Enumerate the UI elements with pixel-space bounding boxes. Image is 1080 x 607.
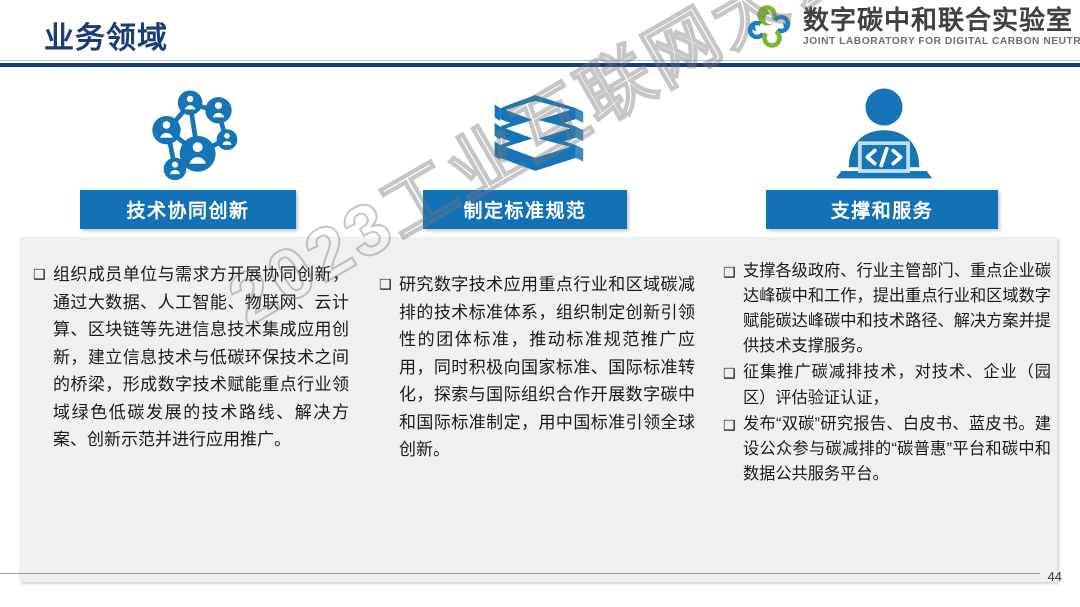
slide-header: 业务领域 数字碳中和联合实验室 JO [0,0,1080,67]
bullet-text: 征集推广碳减排技术，对技术、企业（园区）评估验证认证， [743,360,1051,410]
slide: 业务领域 数字碳中和联合实验室 JO [0,0,1080,607]
card-title-support-service: 支撑和服务 [766,190,998,229]
card-row: 技术协同创新 ❑ 组织成员单位与需求方开展协同创新，通过大数据、人工智能、物联网… [0,78,1080,588]
bullet-text: 组织成员单位与需求方开展协同创新，通过大数据、人工智能、物联网、云计算、区块链等… [53,261,349,454]
page-number: 44 [1048,569,1062,584]
card-title-standards: 制定标准规范 [423,190,627,229]
card-support-service: 支撑和服务 ❑ 支撑各级政府、行业主管部门、重点企业碳达峰碳中和工作，提出重点行… [711,78,1057,586]
footer-divider [0,573,1040,574]
bullet-text: 研究数字技术应用重点行业和区域碳减排的技术标准体系，组织制定创新引领性的团体标准… [399,271,695,464]
list-item: ❑ 组织成员单位与需求方开展协同创新，通过大数据、人工智能、物联网、云计算、区块… [33,261,349,454]
bullet-text: 发布“双碳”研究报告、白皮书、蓝皮书。建设公众参与碳减排的“碳普惠”平台和碳中和… [743,412,1051,487]
card-technology-collaboration: 技术协同创新 ❑ 组织成员单位与需求方开展协同创新，通过大数据、人工智能、物联网… [19,78,365,586]
list-item: ❑ 研究数字技术应用重点行业和区域碳减排的技术标准体系，组织制定创新引领性的团体… [379,271,695,464]
bullet-marker-icon: ❑ [33,261,53,288]
bullet-marker-icon: ❑ [723,259,743,286]
list-item: ❑ 征集推广碳减排技术，对技术、企业（园区）评估验证认证， [723,360,1051,410]
card-standards: 制定标准规范 ❑ 研究数字技术应用重点行业和区域碳减排的技术标准体系，组织制定创… [365,78,711,586]
developer-laptop-icon [711,78,1057,188]
book-stack-icon [365,78,711,188]
card-body-standards: ❑ 研究数字技术应用重点行业和区域碳减排的技术标准体系，组织制定创新引领性的团体… [365,237,711,582]
header-divider-thin [0,60,1080,61]
list-item: ❑ 支撑各级政府、行业主管部门、重点企业碳达峰碳中和工作，提出重点行业和区域数字… [723,259,1051,359]
bullet-marker-icon: ❑ [379,271,399,298]
pinwheel-logo-icon [745,5,795,49]
brand-name-cn: 数字碳中和联合实验室 [803,7,1080,33]
bullet-text: 支撑各级政府、行业主管部门、重点企业碳达峰碳中和工作，提出重点行业和区域数字赋能… [743,259,1051,359]
bullet-marker-icon: ❑ [723,360,743,387]
header-divider [0,63,1080,67]
card-title-technology-collaboration: 技术协同创新 [80,190,296,229]
card-body-support-service: ❑ 支撑各级政府、行业主管部门、重点企业碳达峰碳中和工作，提出重点行业和区域数字… [711,237,1057,582]
network-people-icon [19,78,365,188]
brand-name-en: JOINT LABORATORY FOR DIGITAL CARBON NEUT… [803,37,1080,47]
brand-lockup: 数字碳中和联合实验室 JOINT LABORATORY FOR DIGITAL … [745,5,1080,49]
bullet-marker-icon: ❑ [723,412,743,439]
page-title: 业务领域 [44,13,168,57]
card-body-technology-collaboration: ❑ 组织成员单位与需求方开展协同创新，通过大数据、人工智能、物联网、云计算、区块… [19,237,365,582]
list-item: ❑ 发布“双碳”研究报告、白皮书、蓝皮书。建设公众参与碳减排的“碳普惠”平台和碳… [723,412,1051,487]
